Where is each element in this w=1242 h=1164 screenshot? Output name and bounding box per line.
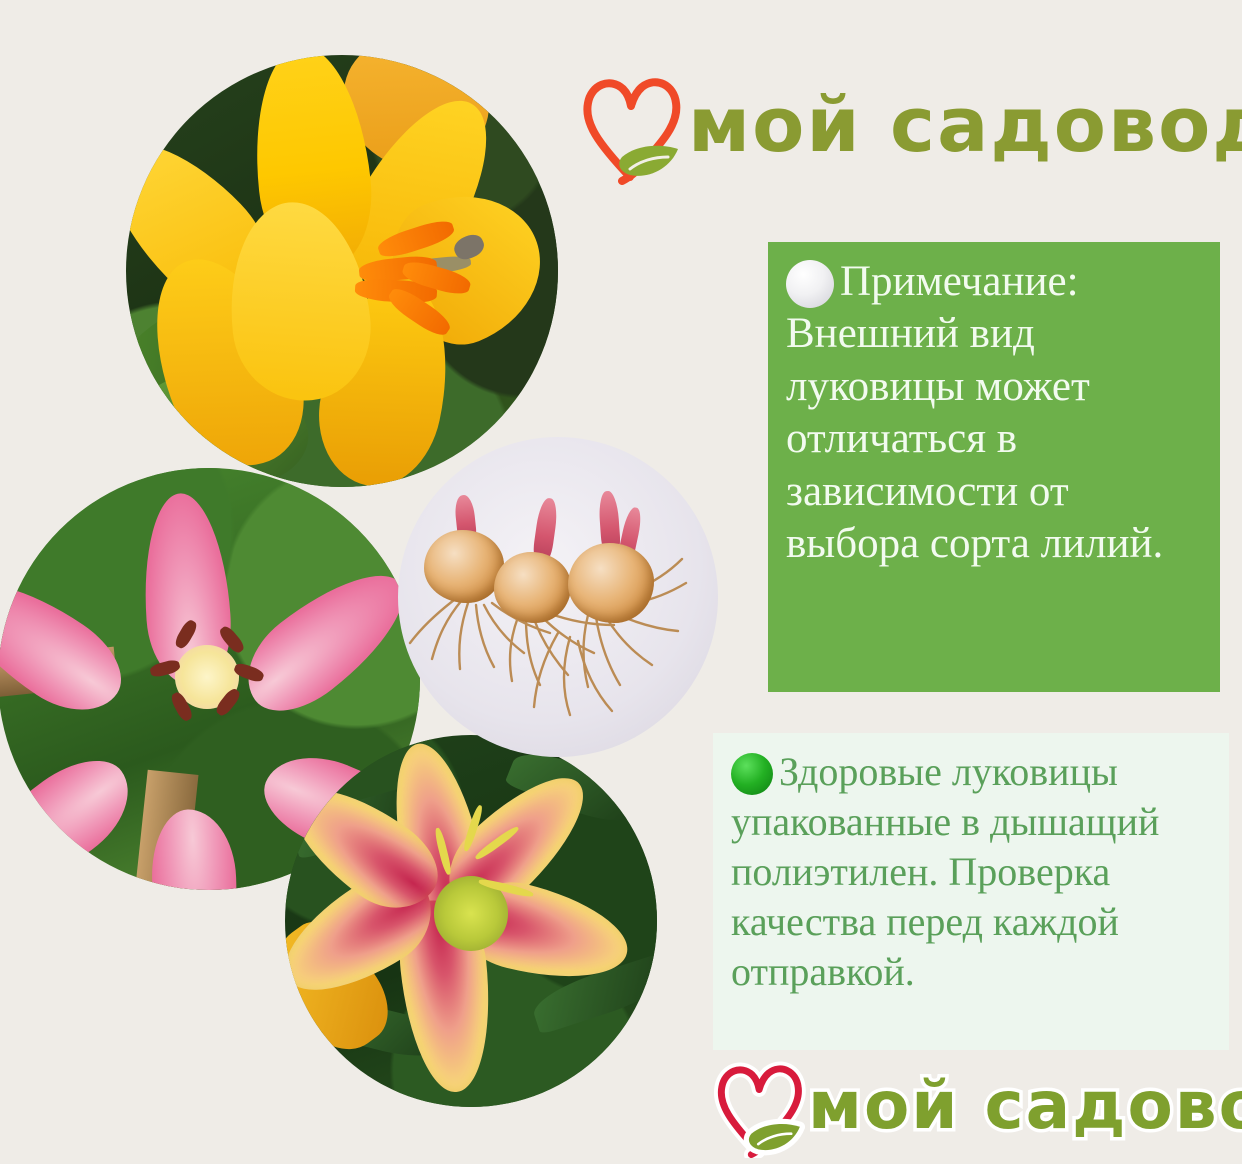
yellow-lily-scene <box>126 55 558 487</box>
lily-bulbs-photo <box>398 437 718 757</box>
heart-leaf-mark <box>712 1054 808 1158</box>
quality-card: Здоровые луковицы упакованные в дышащий … <box>713 733 1229 1050</box>
heart-leaf-mark <box>578 65 686 185</box>
quality-heading: Здоровые луковицы <box>779 747 1118 797</box>
brand-wordmark: мой садовод <box>808 1073 1242 1139</box>
brand-logo-watermark: мой садовод <box>712 1048 1242 1164</box>
quality-body: упакованные в дышащий полиэтилен. Провер… <box>731 797 1213 997</box>
yellow-lily-photo <box>126 55 558 487</box>
brand-logo-top: мой садовод <box>578 55 1226 195</box>
note-card: Примечание: Внешний вид луковицы может о… <box>768 242 1220 692</box>
note-heading-row: Примечание: <box>786 256 1200 308</box>
note-body: Внешний вид луковицы может отличаться в … <box>786 308 1200 570</box>
promo-canvas: мой садовод Примечание: Внешний вид луко… <box>0 0 1242 1164</box>
lily-bulbs-scene <box>398 437 718 757</box>
quality-heading-row: Здоровые луковицы <box>731 747 1213 797</box>
bicolor-lily-photo <box>285 735 657 1107</box>
green-circle-icon <box>731 753 773 795</box>
leaf-icon <box>712 1054 808 1158</box>
lily-bulb <box>424 530 504 604</box>
note-heading: Примечание: <box>840 256 1079 308</box>
lily-bulb <box>494 552 571 622</box>
white-circle-icon <box>786 260 834 308</box>
brand-wordmark: мой садовод <box>688 87 1242 163</box>
leaf-icon <box>578 65 686 185</box>
lily-bulb <box>568 543 654 623</box>
bicolor-lily-scene <box>285 735 657 1107</box>
